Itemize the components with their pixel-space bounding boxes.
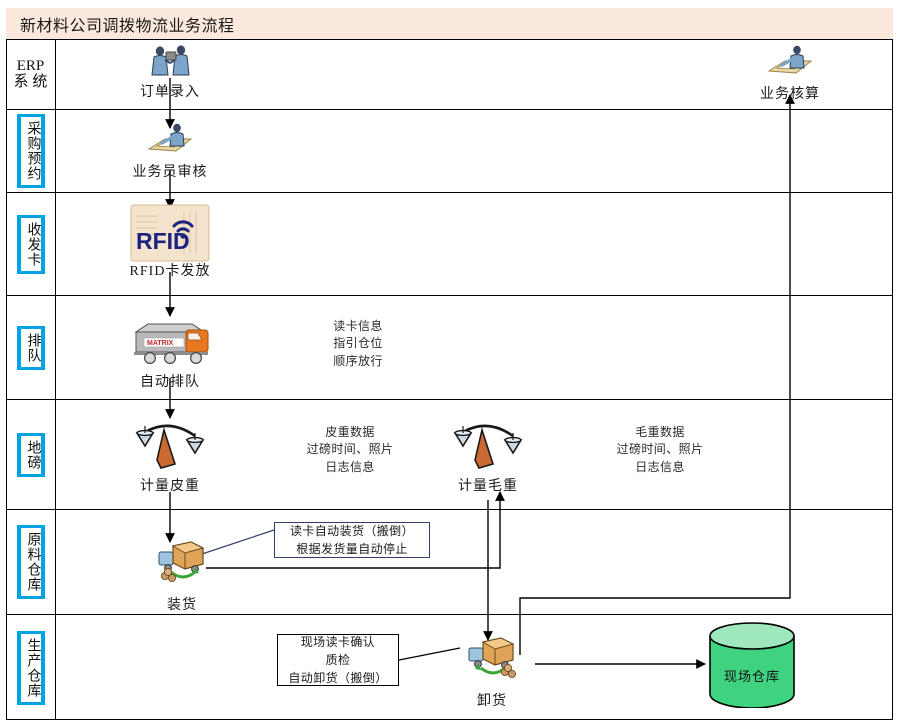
note-box-loading: 读卡自动装货（搬倒） 根据发货量自动停止 [274,522,430,558]
node-order-entry[interactable]: 订单录入 [130,44,210,101]
note-queue: 读卡信息 指引仓位 顺序放行 [268,318,448,370]
two-people-handshake-icon [144,44,196,80]
person-at-desk-icon [763,44,817,82]
node-clerk-review[interactable]: 业务员审核 [128,122,212,181]
node-label-unloading: 卸货 [452,690,532,710]
balance-scale-icon [449,416,527,474]
chart-title-bar: 新材料公司调拨物流业务流程 [6,8,893,40]
node-label-rfid-issue: RFID卡发放 [120,260,220,280]
lane-header-card: 收发卡 [6,193,56,295]
node-unloading[interactable]: 卸货 [452,634,532,710]
node-label-loading: 装货 [142,594,222,614]
lane-label-weighbridge: 地磅 [21,436,41,474]
lane-label-card: 收发卡 [21,218,41,271]
node-gross-weight[interactable]: 计量毛重 [446,416,530,495]
note-box-unloading: 现场读卡确认 质检 自动卸货（搬倒） [277,634,399,686]
node-auto-queue[interactable]: MATRIX 自动排队 [118,316,222,391]
node-label-auto-queue: 自动排队 [118,371,222,391]
lane-header-erp: ERP 系 统 [6,40,56,109]
node-business-accounting[interactable]: 业务核算 [750,44,830,103]
node-label-clerk-review: 业务员审核 [128,161,212,181]
node-rfid-issue[interactable]: RFID RFID卡发放 [120,204,220,280]
page-title: 新材料公司调拨物流业务流程 [20,12,235,36]
lane-material: 原料仓库 [6,510,893,615]
note-gross: 毛重数据 过磅时间、照片 日志信息 [560,424,760,476]
truck-icon: MATRIX [126,316,214,370]
lane-header-queue: 排队 [6,296,56,399]
note-tare: 皮重数据 过磅时间、照片 日志信息 [250,424,450,476]
node-label-gross-weight: 计量毛重 [446,475,530,495]
node-label-business-accounting: 业务核算 [750,83,830,103]
lane-header-purchase: 采购预约 [6,110,56,192]
lane-header-weighbridge: 地磅 [6,400,56,509]
node-tare-weight[interactable]: 计量皮重 [128,416,212,495]
lane-label-purchase: 采购预约 [21,117,41,185]
node-loading[interactable]: 装货 [142,538,222,614]
lane-label-erp: ERP 系 统 [14,55,48,95]
svg-text:RFID: RFID [136,228,190,254]
lane-tag-production: 生产仓库 [17,631,45,705]
database-cylinder-icon [706,622,798,708]
node-label-site-warehouse: 现场仓库 [706,666,798,685]
lane-tag-card: 收发卡 [17,215,45,274]
lane-header-production: 生产仓库 [6,615,56,720]
lane-label-material: 原料仓库 [21,528,41,596]
lane-tag-queue: 排队 [17,326,45,370]
person-at-desk-icon [143,122,197,160]
node-site-warehouse[interactable]: 现场仓库 [706,622,798,708]
lane-label-production: 生产仓库 [21,634,41,702]
flowchart-page: 新材料公司调拨物流业务流程 ERP 系 统 采购预约 收发卡 排队 [0,0,900,727]
rfid-tag-icon: RFID [130,204,210,262]
balance-scale-icon [131,416,209,474]
lane-label-queue: 排队 [21,329,41,367]
node-label-order-entry: 订单录入 [130,81,210,101]
lane-tag-purchase: 采购预约 [17,114,45,188]
cargo-truck-unload-icon [461,634,523,682]
lane-tag-erp: ERP 系 统 [11,52,51,98]
node-label-tare-weight: 计量皮重 [128,475,212,495]
lane-tag-weighbridge: 地磅 [17,433,45,477]
lane-header-material: 原料仓库 [6,510,56,614]
cargo-truck-load-icon [151,538,213,586]
lane-tag-material: 原料仓库 [17,525,45,599]
svg-text:MATRIX: MATRIX [147,340,174,347]
